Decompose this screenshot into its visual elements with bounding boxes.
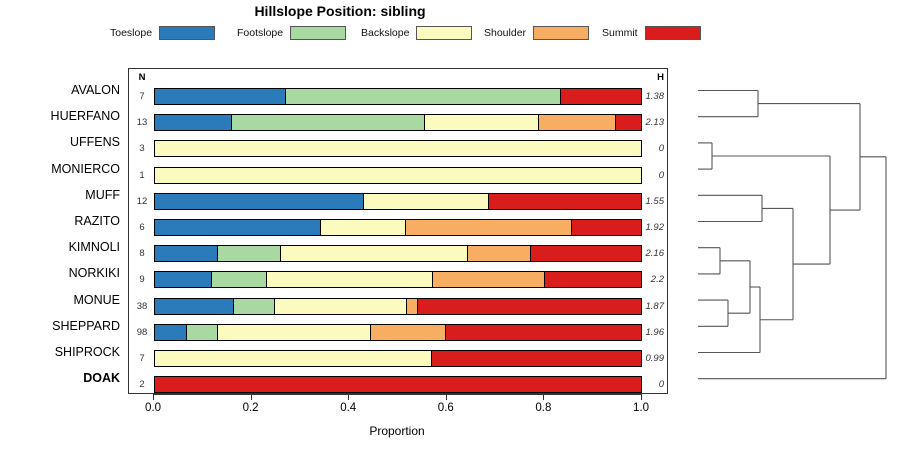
legend-item-toeslope: Toeslope xyxy=(110,24,215,42)
bar-row[interactable] xyxy=(154,135,642,161)
row-label-norkiki: NORKIKI xyxy=(0,266,120,280)
row-label-sheppard: SHEPPARD xyxy=(0,319,120,333)
bar-segment-shoulder[interactable] xyxy=(371,325,445,340)
bar-segment-backslope[interactable] xyxy=(155,141,641,156)
bar-row[interactable] xyxy=(154,188,642,214)
legend-swatch xyxy=(159,26,215,40)
axis-tick xyxy=(446,394,447,400)
n-value: 38 xyxy=(131,301,153,312)
bar-row[interactable] xyxy=(154,319,642,345)
bar-segment-summit[interactable] xyxy=(489,194,641,209)
legend-label: Toeslope xyxy=(110,27,152,39)
h-value: 1.92 xyxy=(628,222,664,233)
bar-segment-summit[interactable] xyxy=(545,272,641,287)
n-value: 12 xyxy=(131,196,153,207)
stacked-bar[interactable] xyxy=(154,167,642,184)
stacked-bar[interactable] xyxy=(154,350,642,367)
bar-segment-shoulder[interactable] xyxy=(539,115,616,130)
bar-segment-toeslope[interactable] xyxy=(155,220,321,235)
row-label-shiprock: SHIPROCK xyxy=(0,345,120,359)
stacked-bar[interactable] xyxy=(154,298,642,315)
stacked-bar[interactable] xyxy=(154,114,642,131)
stacked-bar[interactable] xyxy=(154,140,642,157)
dendrogram-svg xyxy=(690,68,895,394)
bar-segment-backslope[interactable] xyxy=(267,272,433,287)
legend-label: Backslope xyxy=(361,27,409,39)
bar-segment-shoulder[interactable] xyxy=(407,299,418,314)
plot-panel xyxy=(128,68,668,394)
legend-swatch xyxy=(533,26,589,40)
h-value: 0.99 xyxy=(628,353,664,364)
legend: ToeslopeFootslopeBackslopeShoulderSummit xyxy=(110,24,670,42)
h-value: 1.96 xyxy=(628,327,664,338)
bar-segment-summit[interactable] xyxy=(432,351,641,366)
axis-tick xyxy=(641,394,642,400)
h-column-header: H xyxy=(628,72,664,83)
n-value: 1 xyxy=(131,170,153,181)
axis-tick-label: 0.2 xyxy=(231,402,271,414)
h-value: 1.87 xyxy=(628,301,664,312)
bar-segment-toeslope[interactable] xyxy=(155,299,234,314)
bar-segment-summit[interactable] xyxy=(531,246,641,261)
legend-swatch xyxy=(645,26,701,40)
axis-tick-label: 0.4 xyxy=(328,402,368,414)
x-axis: 0.00.20.40.60.81.0 xyxy=(153,394,641,395)
legend-item-footslope: Footslope xyxy=(237,24,346,42)
legend-label: Footslope xyxy=(237,27,283,39)
h-value: 2.16 xyxy=(628,248,664,259)
stacked-bar[interactable] xyxy=(154,376,642,393)
bar-segment-backslope[interactable] xyxy=(281,246,468,261)
bar-segment-toeslope[interactable] xyxy=(155,89,286,104)
bar-segment-footslope[interactable] xyxy=(232,115,425,130)
h-value: 0 xyxy=(628,170,664,181)
axis-tick-label: 1.0 xyxy=(621,402,661,414)
axis-tick xyxy=(543,394,544,400)
bar-segment-footslope[interactable] xyxy=(218,246,281,261)
bar-segment-footslope[interactable] xyxy=(212,272,267,287)
bar-segment-backslope[interactable] xyxy=(364,194,489,209)
bar-segment-toeslope[interactable] xyxy=(155,272,212,287)
bar-segment-summit[interactable] xyxy=(446,325,641,340)
bars-area xyxy=(154,69,642,393)
bar-segment-footslope[interactable] xyxy=(286,89,561,104)
axis-tick xyxy=(348,394,349,400)
row-label-doak: DOAK xyxy=(0,371,120,385)
legend-label: Shoulder xyxy=(484,27,526,39)
stacked-bar[interactable] xyxy=(154,324,642,341)
n-column-header: N xyxy=(131,72,153,83)
axis-tick-label: 0.6 xyxy=(426,402,466,414)
bar-row[interactable] xyxy=(154,109,642,135)
bar-row[interactable] xyxy=(154,83,642,109)
chart-root: Hillslope Position: sibling ToeslopeFoot… xyxy=(0,0,900,460)
bar-segment-footslope[interactable] xyxy=(187,325,218,340)
row-label-monierco: MONIERCO xyxy=(0,162,120,176)
n-value: 98 xyxy=(131,327,153,338)
n-value: 6 xyxy=(131,222,153,233)
bar-segment-backslope[interactable] xyxy=(155,351,432,366)
h-value: 2.13 xyxy=(628,117,664,128)
x-axis-title: Proportion xyxy=(153,424,641,438)
dendrogram xyxy=(690,68,895,394)
bar-segment-toeslope[interactable] xyxy=(155,246,218,261)
stacked-bar[interactable] xyxy=(154,88,642,105)
row-label-monue: MONUE xyxy=(0,293,120,307)
h-value: 2.2 xyxy=(628,274,664,285)
row-label-muff: MUFF xyxy=(0,188,120,202)
legend-label: Summit xyxy=(602,27,638,39)
bar-segment-shoulder[interactable] xyxy=(406,220,572,235)
bar-segment-toeslope[interactable] xyxy=(155,325,187,340)
bar-segment-shoulder[interactable] xyxy=(468,246,530,261)
bar-segment-toeslope[interactable] xyxy=(155,194,364,209)
n-value: 9 xyxy=(131,274,153,285)
bar-segment-backslope[interactable] xyxy=(275,299,407,314)
n-value: 7 xyxy=(131,353,153,364)
legend-item-backslope: Backslope xyxy=(361,24,472,42)
bar-segment-summit[interactable] xyxy=(155,377,641,392)
axis-tick-label: 0.8 xyxy=(523,402,563,414)
row-label-huerfano: HUERFANO xyxy=(0,109,120,123)
h-value: 1.38 xyxy=(628,91,664,102)
row-label-avalon: AVALON xyxy=(0,83,120,97)
legend-swatch xyxy=(416,26,472,40)
h-value: 0 xyxy=(628,143,664,154)
page-title: Hillslope Position: sibling xyxy=(0,3,680,19)
bar-segment-backslope[interactable] xyxy=(321,220,406,235)
axis-tick xyxy=(251,394,252,400)
n-value: 3 xyxy=(131,143,153,154)
bar-row[interactable] xyxy=(154,162,642,188)
bar-row[interactable] xyxy=(154,266,642,292)
stacked-bar[interactable] xyxy=(154,219,642,236)
n-value: 8 xyxy=(131,248,153,259)
bar-segment-summit[interactable] xyxy=(418,299,641,314)
bar-row[interactable] xyxy=(154,240,642,266)
bar-segment-shoulder[interactable] xyxy=(433,272,545,287)
bar-row[interactable] xyxy=(154,345,642,371)
n-value: 13 xyxy=(131,117,153,128)
bar-row[interactable] xyxy=(154,293,642,319)
row-label-uffens: UFFENS xyxy=(0,135,120,149)
h-value: 0 xyxy=(628,379,664,390)
h-value: 1.55 xyxy=(628,196,664,207)
bar-segment-footslope[interactable] xyxy=(234,299,275,314)
bar-row[interactable] xyxy=(154,214,642,240)
axis-tick xyxy=(153,394,154,400)
legend-item-summit: Summit xyxy=(602,24,701,42)
stacked-bar[interactable] xyxy=(154,271,642,288)
bar-segment-backslope[interactable] xyxy=(218,325,371,340)
axis-tick-label: 0.0 xyxy=(133,402,173,414)
stacked-bar[interactable] xyxy=(154,245,642,262)
bar-segment-backslope[interactable] xyxy=(425,115,540,130)
stacked-bar[interactable] xyxy=(154,193,642,210)
row-label-razito: RAZITO xyxy=(0,214,120,228)
legend-item-shoulder: Shoulder xyxy=(484,24,589,42)
n-value: 7 xyxy=(131,91,153,102)
n-value: 2 xyxy=(131,379,153,390)
bar-segment-toeslope[interactable] xyxy=(155,115,232,130)
legend-swatch xyxy=(290,26,346,40)
bar-segment-backslope[interactable] xyxy=(155,168,641,183)
row-label-kimnoli: KIMNOLI xyxy=(0,240,120,254)
